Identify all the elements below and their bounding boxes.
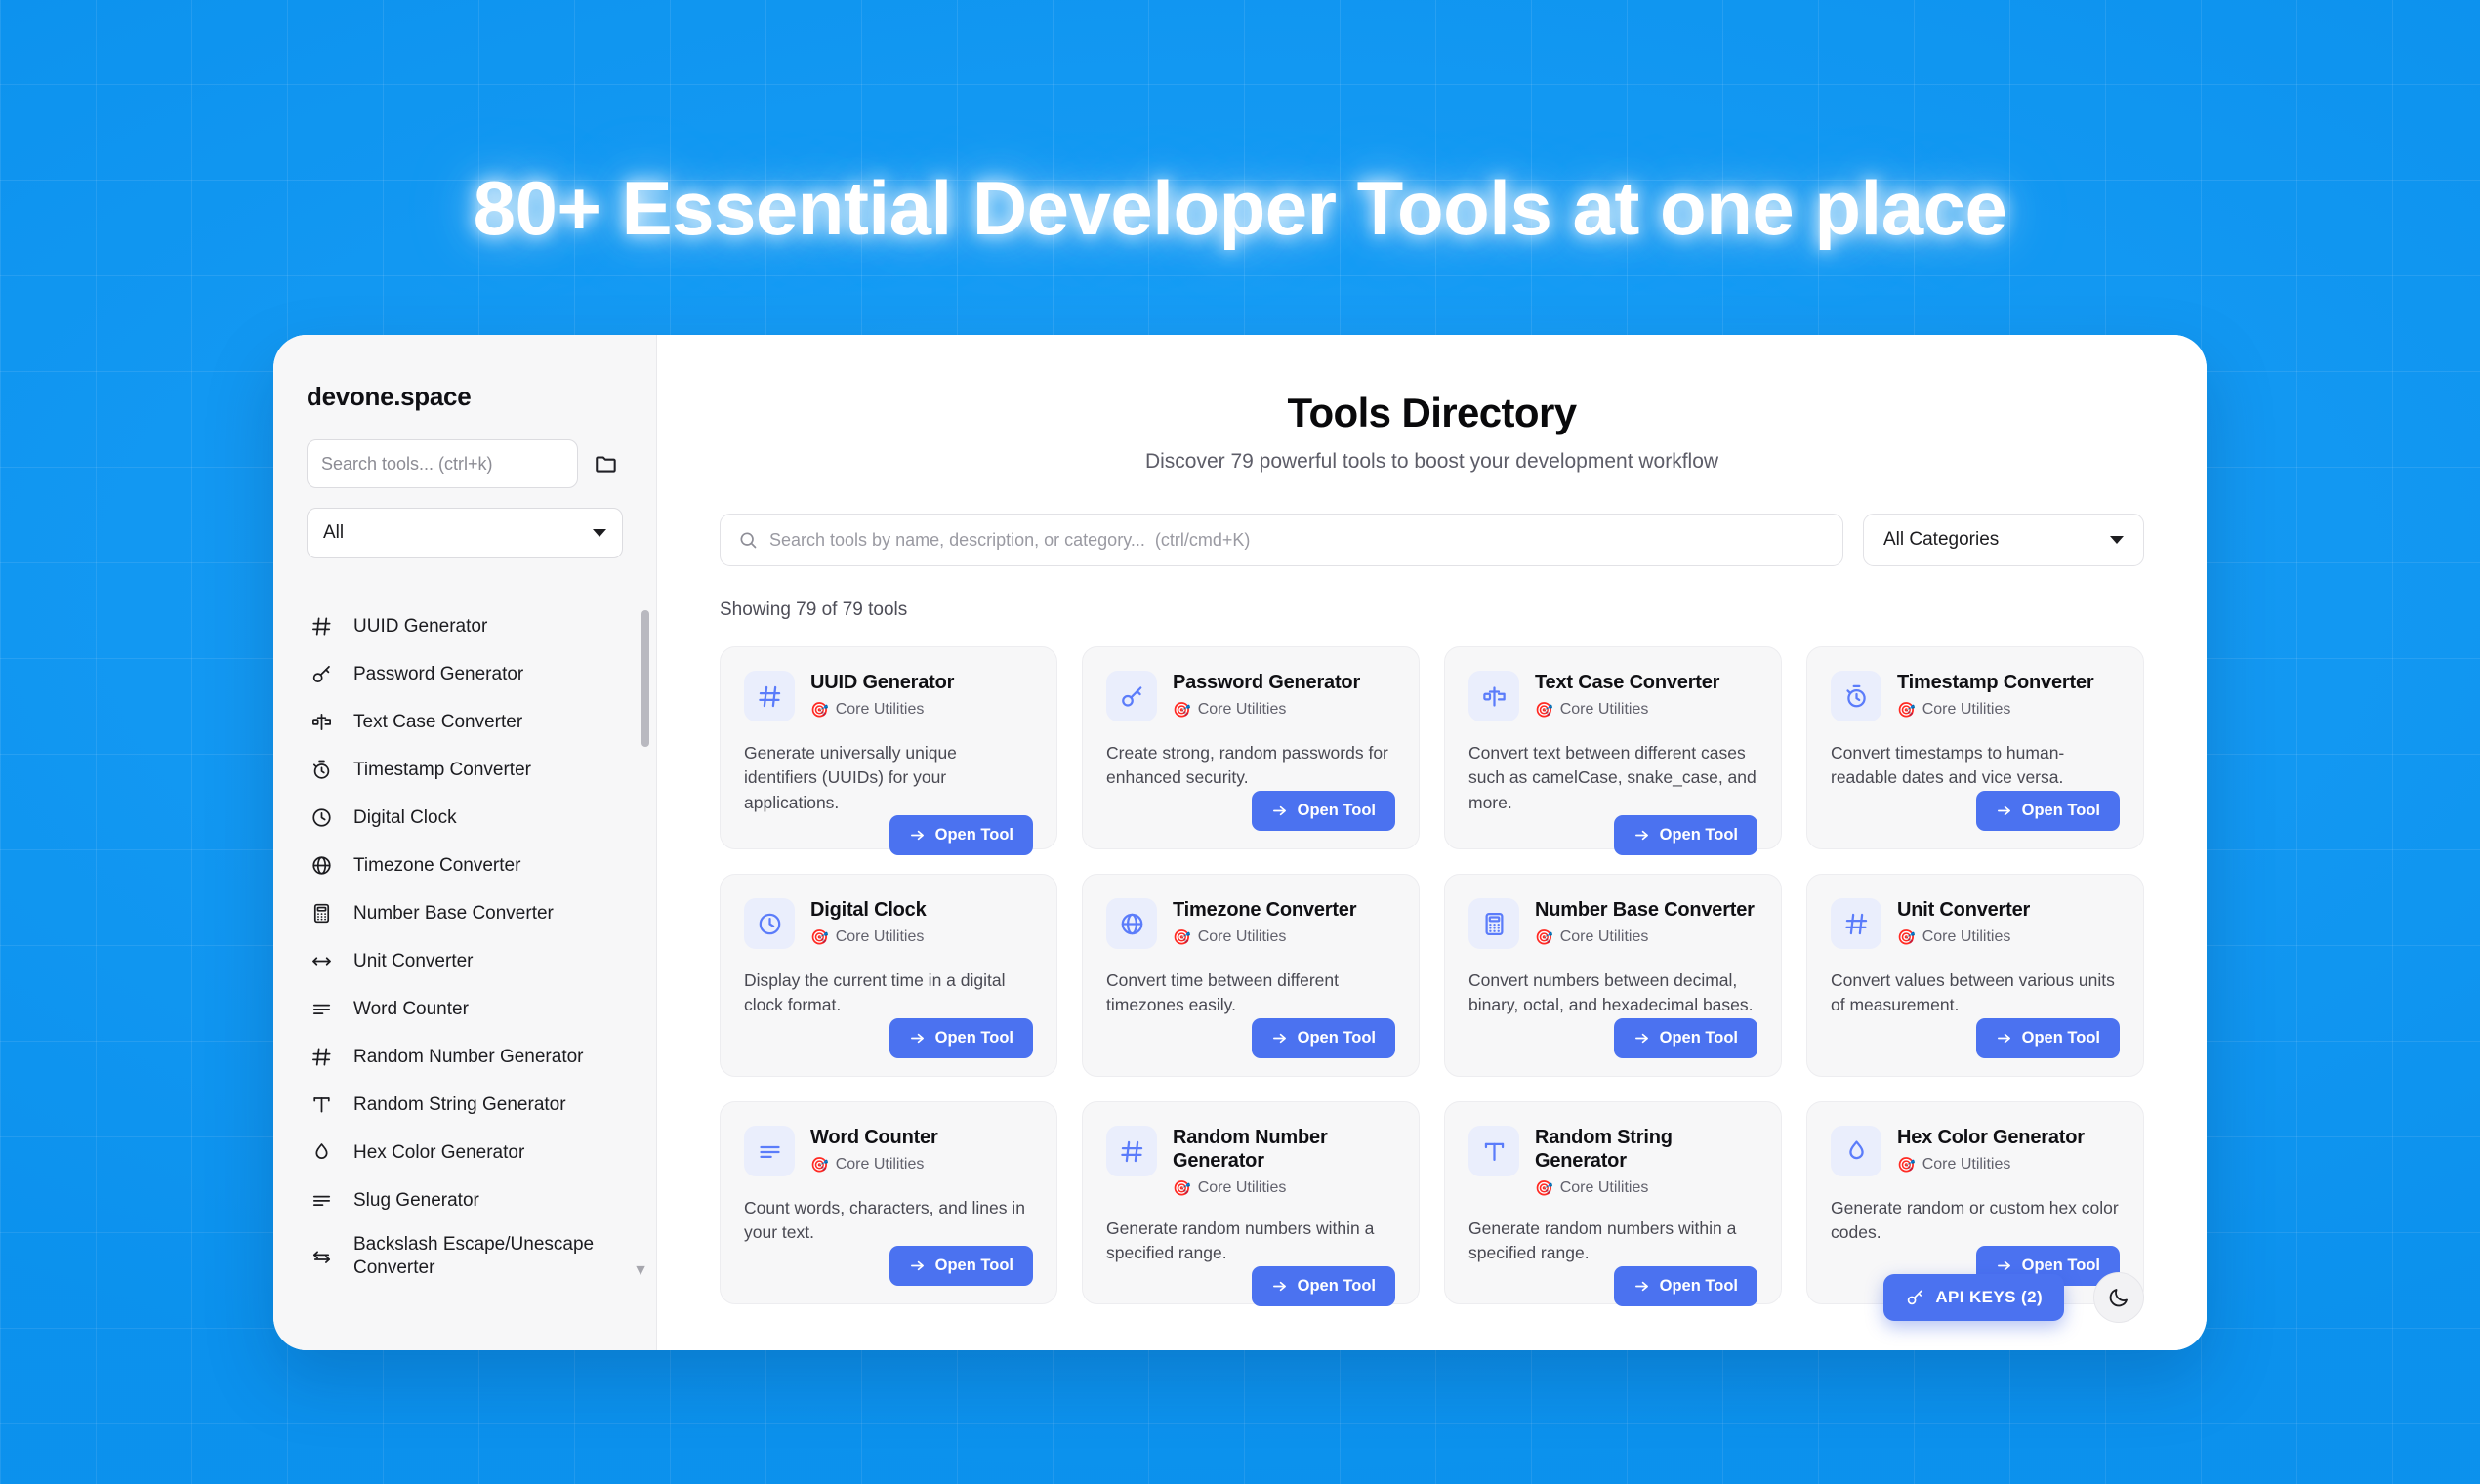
card-header: Text Case Converter 🎯 Core Utilities — [1468, 671, 1757, 721]
lines-icon — [309, 1189, 334, 1212]
tool-card[interactable]: Random Number Generator 🎯 Core Utilities… — [1082, 1101, 1420, 1304]
sidebar-tool-list[interactable]: UUID GeneratorPassword GeneratorText Cas… — [273, 602, 656, 1286]
open-tool-button[interactable]: Open Tool — [1976, 791, 2120, 831]
card-description: Convert time between different timezones… — [1106, 969, 1395, 1018]
open-tool-label: Open Tool — [935, 826, 1013, 845]
sidebar-item[interactable]: Timestamp Converter — [273, 746, 656, 794]
target-icon: 🎯 — [1897, 928, 1916, 946]
card-header: UUID Generator 🎯 Core Utilities — [744, 671, 1033, 721]
card-description: Display the current time in a digital cl… — [744, 969, 1033, 1018]
card-category-label: Core Utilities — [1560, 1179, 1649, 1197]
filter-row: All Categories — [720, 514, 2144, 566]
card-header: Random Number Generator 🎯 Core Utilities — [1106, 1126, 1395, 1197]
hash-icon — [309, 1046, 334, 1068]
arrow-right-icon — [1633, 1030, 1650, 1047]
open-tool-label: Open Tool — [1298, 1277, 1376, 1296]
arrow-right-icon — [909, 827, 926, 844]
card-footer: Open Tool — [1468, 1266, 1757, 1306]
open-tool-button[interactable]: Open Tool — [889, 1018, 1033, 1058]
tool-card[interactable]: Number Base Converter 🎯 Core Utilities C… — [1444, 874, 1782, 1077]
chevron-down-icon — [2110, 536, 2124, 544]
card-category: 🎯 Core Utilities — [1173, 701, 1360, 719]
card-title: Random Number Generator — [1173, 1126, 1395, 1173]
card-category-label: Core Utilities — [1922, 928, 2011, 946]
card-description: Convert numbers between decimal, binary,… — [1468, 969, 1757, 1018]
tool-cards-grid: UUID Generator 🎯 Core Utilities Generate… — [720, 646, 2144, 1304]
card-category: 🎯 Core Utilities — [1173, 928, 1356, 946]
sidebar-scrollbar[interactable] — [641, 610, 649, 747]
card-description: Generate random or custom hex color code… — [1831, 1196, 2120, 1246]
target-icon: 🎯 — [1897, 701, 1916, 719]
sidebar-filter-label: All — [323, 522, 344, 544]
card-header: Hex Color Generator 🎯 Core Utilities — [1831, 1126, 2120, 1176]
card-category: 🎯 Core Utilities — [1897, 928, 2030, 946]
target-icon: 🎯 — [1535, 928, 1553, 946]
tool-card[interactable]: Text Case Converter 🎯 Core Utilities Con… — [1444, 646, 1782, 849]
target-icon: 🎯 — [1173, 1179, 1191, 1197]
card-header: Timestamp Converter 🎯 Core Utilities — [1831, 671, 2120, 721]
sidebar-item-label: UUID Generator — [353, 615, 487, 639]
sidebar-item[interactable]: Random Number Generator — [273, 1033, 656, 1081]
arrow-right-icon — [909, 1257, 926, 1274]
tool-card[interactable]: Word Counter 🎯 Core Utilities Count word… — [720, 1101, 1057, 1304]
target-icon: 🎯 — [810, 1156, 829, 1174]
card-title: Text Case Converter — [1535, 671, 1719, 694]
target-icon: 🎯 — [1535, 701, 1553, 719]
scroll-down-icon[interactable]: ▼ — [633, 1262, 648, 1280]
text-case-icon — [1468, 671, 1519, 721]
card-header: Number Base Converter 🎯 Core Utilities — [1468, 898, 1757, 949]
theme-toggle-button[interactable] — [2093, 1272, 2144, 1323]
card-description: Convert values between various units of … — [1831, 969, 2120, 1018]
arrow-right-icon — [1996, 1257, 2012, 1274]
target-icon: 🎯 — [1897, 1156, 1916, 1174]
sidebar-item[interactable]: Unit Converter — [273, 937, 656, 985]
target-icon: 🎯 — [1173, 701, 1191, 719]
lines-icon — [309, 998, 334, 1020]
sidebar-item-label: Password Generator — [353, 663, 523, 686]
card-footer: Open Tool — [1468, 1018, 1757, 1058]
sidebar-item[interactable]: Word Counter — [273, 985, 656, 1033]
sidebar-item-label: Unit Converter — [353, 950, 474, 973]
swap-icon — [309, 1246, 334, 1268]
card-category: 🎯 Core Utilities — [810, 928, 927, 946]
open-tool-label: Open Tool — [2022, 802, 2100, 820]
sidebar-search-row — [273, 439, 656, 488]
open-tool-label: Open Tool — [935, 1029, 1013, 1048]
open-tool-label: Open Tool — [2022, 1257, 2100, 1275]
hash-icon — [309, 615, 334, 638]
sidebar-item[interactable]: Backslash Escape/Unescape Converter — [273, 1224, 656, 1286]
card-category-label: Core Utilities — [836, 928, 925, 946]
card-title: Password Generator — [1173, 671, 1360, 694]
sidebar-item[interactable]: Digital Clock — [273, 794, 656, 842]
open-tool-label: Open Tool — [1298, 1029, 1376, 1048]
card-description: Count words, characters, and lines in yo… — [744, 1196, 1033, 1246]
calculator-icon — [309, 902, 334, 925]
sidebar-item-label: Word Counter — [353, 998, 469, 1021]
sidebar-item-label: Number Base Converter — [353, 902, 554, 926]
lines-icon — [744, 1126, 795, 1176]
sidebar-item-label: Timestamp Converter — [353, 759, 531, 782]
main-search-wrapper[interactable] — [720, 514, 1843, 566]
card-description: Generate random numbers within a specifi… — [1468, 1216, 1757, 1266]
main-content: Tools Directory Discover 79 powerful too… — [657, 335, 2207, 1350]
card-footer: Open Tool — [744, 1018, 1033, 1058]
card-description: Convert text between different cases suc… — [1468, 741, 1757, 815]
page-title: Tools Directory — [720, 390, 2144, 436]
arrow-right-icon — [1633, 1278, 1650, 1295]
sidebar-item[interactable]: Password Generator — [273, 650, 656, 698]
card-header: Word Counter 🎯 Core Utilities — [744, 1126, 1033, 1176]
arrow-right-icon — [1271, 803, 1288, 819]
open-tool-button[interactable]: Open Tool — [889, 815, 1033, 855]
main-search-input[interactable] — [769, 530, 1825, 551]
text-case-icon — [309, 711, 334, 733]
key-icon — [309, 663, 334, 685]
card-header: Random String Generator 🎯 Core Utilities — [1468, 1126, 1757, 1197]
sidebar-item[interactable]: Hex Color Generator — [273, 1129, 656, 1176]
hash-icon — [1831, 898, 1881, 949]
timer-icon — [1831, 671, 1881, 721]
open-tool-label: Open Tool — [1660, 1277, 1738, 1296]
open-tool-label: Open Tool — [935, 1257, 1013, 1275]
card-title: Digital Clock — [810, 898, 927, 922]
card-title: Random String Generator — [1535, 1126, 1757, 1173]
card-title: Hex Color Generator — [1897, 1126, 2085, 1149]
sidebar: devone.space All UUID GeneratorPassword … — [273, 335, 657, 1350]
arrow-right-icon — [1996, 803, 2012, 819]
arrow-right-icon — [1271, 1278, 1288, 1295]
target-icon: 🎯 — [810, 701, 829, 719]
card-footer: Open Tool — [744, 1246, 1033, 1286]
category-select-label: All Categories — [1883, 529, 1999, 551]
card-category-label: Core Utilities — [1198, 1179, 1287, 1197]
open-tool-label: Open Tool — [1660, 826, 1738, 845]
card-description: Convert timestamps to human-readable dat… — [1831, 741, 2120, 791]
card-category: 🎯 Core Utilities — [1535, 928, 1755, 946]
globe-icon — [309, 854, 334, 877]
card-title: Unit Converter — [1897, 898, 2030, 922]
results-count: Showing 79 of 79 tools — [720, 599, 2144, 621]
sidebar-item[interactable]: Timezone Converter — [273, 842, 656, 889]
clock-icon — [744, 898, 795, 949]
tool-card[interactable]: Timestamp Converter 🎯 Core Utilities Con… — [1806, 646, 2144, 849]
calculator-icon — [1468, 898, 1519, 949]
card-category: 🎯 Core Utilities — [1535, 1179, 1757, 1197]
card-header: Unit Converter 🎯 Core Utilities — [1831, 898, 2120, 949]
card-header: Timezone Converter 🎯 Core Utilities — [1106, 898, 1395, 949]
card-category-label: Core Utilities — [1560, 701, 1649, 719]
sidebar-item[interactable]: UUID Generator — [273, 602, 656, 650]
target-icon: 🎯 — [1535, 1179, 1553, 1197]
arrow-right-icon — [1633, 827, 1650, 844]
sidebar-item-label: Digital Clock — [353, 806, 457, 830]
open-tool-button[interactable]: Open Tool — [1252, 1018, 1395, 1058]
api-keys-label: API KEYS (2) — [1935, 1288, 2043, 1307]
card-footer: Open Tool — [1831, 791, 2120, 831]
card-category-label: Core Utilities — [1198, 701, 1287, 719]
card-description: Generate random numbers within a specifi… — [1106, 1216, 1395, 1266]
tool-card[interactable]: Random String Generator 🎯 Core Utilities… — [1444, 1101, 1782, 1304]
card-category: 🎯 Core Utilities — [1897, 701, 2093, 719]
tool-card[interactable]: Password Generator 🎯 Core Utilities Crea… — [1082, 646, 1420, 849]
chevron-down-icon — [593, 529, 606, 537]
card-category: 🎯 Core Utilities — [1173, 1179, 1395, 1197]
card-description: Create strong, random passwords for enha… — [1106, 741, 1395, 791]
card-category: 🎯 Core Utilities — [810, 701, 954, 719]
droplet-icon — [1831, 1126, 1881, 1176]
timer-icon — [309, 759, 334, 781]
api-keys-button[interactable]: API KEYS (2) — [1883, 1274, 2064, 1321]
card-category-label: Core Utilities — [1560, 928, 1649, 946]
card-category-label: Core Utilities — [1922, 701, 2011, 719]
sidebar-item-label: Hex Color Generator — [353, 1141, 524, 1165]
tool-card[interactable]: Unit Converter 🎯 Core Utilities Convert … — [1806, 874, 2144, 1077]
open-tool-label: Open Tool — [2022, 1029, 2100, 1048]
open-tool-label: Open Tool — [1298, 802, 1376, 820]
page-subtitle: Discover 79 powerful tools to boost your… — [720, 450, 2144, 474]
sidebar-item-label: Timezone Converter — [353, 854, 520, 878]
hash-icon — [1106, 1126, 1157, 1176]
arrows-horizontal-icon — [309, 950, 334, 972]
clock-icon — [309, 806, 334, 829]
moon-icon — [2107, 1286, 2130, 1309]
card-description: Generate universally unique identifiers … — [744, 741, 1033, 815]
search-icon — [738, 530, 758, 550]
open-tool-button[interactable]: Open Tool — [1614, 815, 1757, 855]
key-icon — [1905, 1288, 1924, 1307]
sidebar-item[interactable]: Slug Generator — [273, 1176, 656, 1224]
card-footer: Open Tool — [1106, 1018, 1395, 1058]
open-tool-button[interactable]: Open Tool — [1614, 1266, 1757, 1306]
category-select[interactable]: All Categories — [1863, 514, 2144, 566]
tool-card[interactable]: UUID Generator 🎯 Core Utilities Generate… — [720, 646, 1057, 849]
card-title: Timezone Converter — [1173, 898, 1356, 922]
card-title: Timestamp Converter — [1897, 671, 2093, 694]
sidebar-category-filter[interactable]: All — [307, 508, 623, 558]
sidebar-item-label: Slug Generator — [353, 1189, 479, 1213]
card-category: 🎯 Core Utilities — [1897, 1156, 2085, 1174]
type-icon — [1468, 1126, 1519, 1176]
card-title: Number Base Converter — [1535, 898, 1755, 922]
card-footer: Open Tool — [1831, 1018, 2120, 1058]
open-tool-button[interactable]: Open Tool — [1252, 791, 1395, 831]
brand-title: devone.space — [273, 382, 656, 412]
tool-card[interactable]: Timezone Converter 🎯 Core Utilities Conv… — [1082, 874, 1420, 1077]
card-category-label: Core Utilities — [1198, 928, 1287, 946]
app-window: devone.space All UUID GeneratorPassword … — [273, 335, 2207, 1350]
card-footer: Open Tool — [1468, 815, 1757, 855]
type-icon — [309, 1093, 334, 1116]
card-footer: Open Tool — [744, 815, 1033, 855]
arrow-right-icon — [909, 1030, 926, 1047]
card-footer: Open Tool — [1106, 1266, 1395, 1306]
folder-icon[interactable] — [590, 447, 623, 480]
banner-headline: 80+ Essential Developer Tools at one pla… — [0, 164, 2480, 253]
card-footer: Open Tool — [1106, 791, 1395, 831]
hash-icon — [744, 671, 795, 721]
arrow-right-icon — [1271, 1030, 1288, 1047]
open-tool-button[interactable]: Open Tool — [1614, 1018, 1757, 1058]
open-tool-button[interactable]: Open Tool — [1252, 1266, 1395, 1306]
open-tool-button[interactable]: Open Tool — [1976, 1018, 2120, 1058]
tool-card[interactable]: Digital Clock 🎯 Core Utilities Display t… — [720, 874, 1057, 1077]
card-category: 🎯 Core Utilities — [1535, 701, 1719, 719]
card-title: Word Counter — [810, 1126, 938, 1149]
sidebar-item-label: Text Case Converter — [353, 711, 522, 734]
card-category-label: Core Utilities — [836, 701, 925, 719]
sidebar-item[interactable]: Random String Generator — [273, 1081, 656, 1129]
sidebar-item[interactable]: Number Base Converter — [273, 889, 656, 937]
card-category-label: Core Utilities — [1922, 1156, 2011, 1174]
sidebar-search-input[interactable] — [307, 439, 578, 488]
card-header: Digital Clock 🎯 Core Utilities — [744, 898, 1033, 949]
globe-icon — [1106, 898, 1157, 949]
arrow-right-icon — [1996, 1030, 2012, 1047]
card-header: Password Generator 🎯 Core Utilities — [1106, 671, 1395, 721]
card-category-label: Core Utilities — [836, 1156, 925, 1174]
target-icon: 🎯 — [810, 928, 829, 946]
sidebar-item-label: Random String Generator — [353, 1093, 566, 1117]
key-icon — [1106, 671, 1157, 721]
sidebar-item-label: Random Number Generator — [353, 1046, 584, 1069]
open-tool-button[interactable]: Open Tool — [889, 1246, 1033, 1286]
sidebar-item[interactable]: Text Case Converter — [273, 698, 656, 746]
target-icon: 🎯 — [1173, 928, 1191, 946]
droplet-icon — [309, 1141, 334, 1164]
card-category: 🎯 Core Utilities — [810, 1156, 938, 1174]
open-tool-label: Open Tool — [1660, 1029, 1738, 1048]
card-title: UUID Generator — [810, 671, 954, 694]
sidebar-item-label: Backslash Escape/Unescape Converter — [353, 1233, 623, 1280]
